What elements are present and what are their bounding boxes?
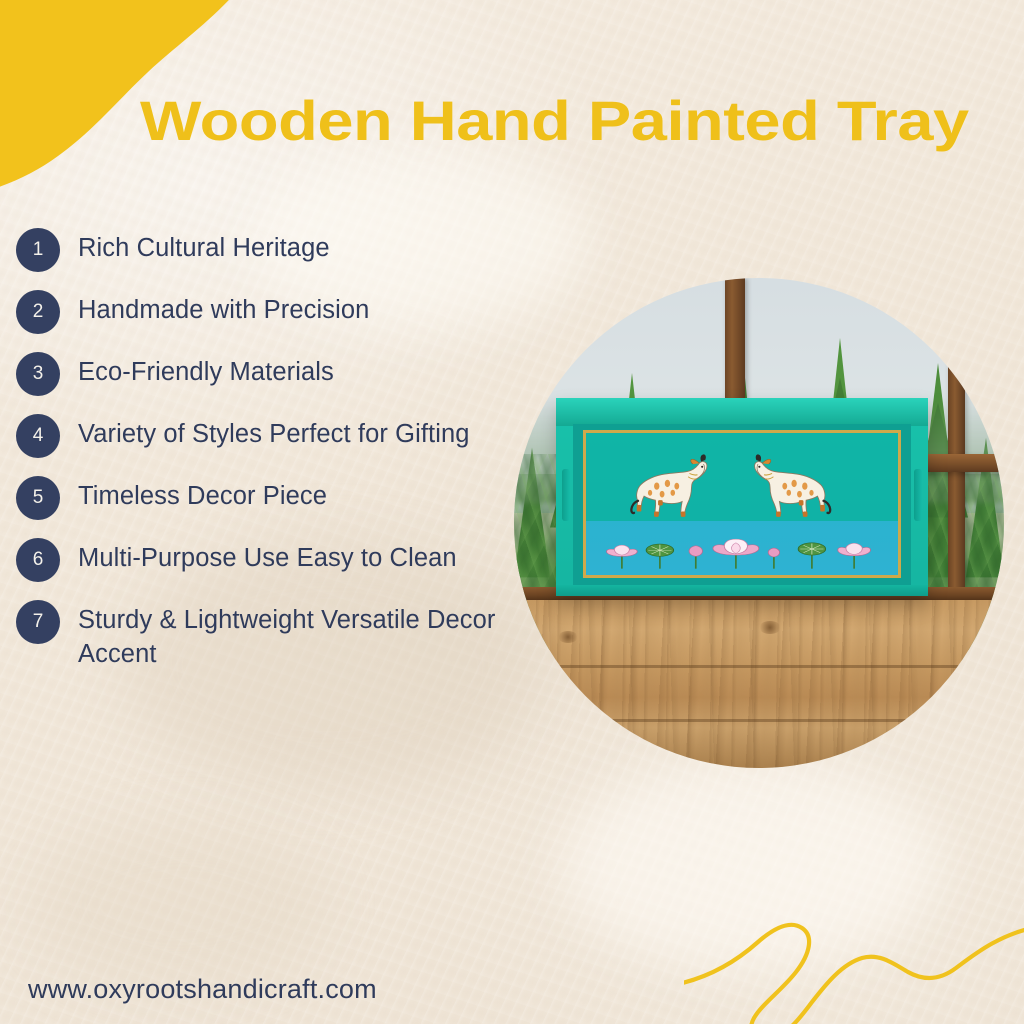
windowsill-seam xyxy=(514,719,1004,722)
list-item: 5 Timeless Decor Piece xyxy=(16,475,536,520)
list-item-label: Timeless Decor Piece xyxy=(78,475,327,514)
list-item: 7 Sturdy & Lightweight Versatile Decor A… xyxy=(16,599,536,672)
list-item-number: 3 xyxy=(16,352,60,396)
tray-handle-right xyxy=(914,469,922,521)
list-item-label: Handmade with Precision xyxy=(78,289,369,328)
list-item-number: 1 xyxy=(16,228,60,272)
list-item-number: 4 xyxy=(16,414,60,458)
feature-list: 1 Rich Cultural Heritage 2 Handmade with… xyxy=(16,227,536,689)
poster-canvas: Wooden Hand Painted Tray 1 Rich Cultural… xyxy=(0,0,1024,1024)
list-item-number: 7 xyxy=(16,600,60,644)
tray-rim xyxy=(556,398,928,426)
paper-smudge xyxy=(30,820,330,990)
painted-cow-left xyxy=(626,447,720,529)
tray-interior xyxy=(573,424,911,585)
list-item-label: Multi-Purpose Use Easy to Clean xyxy=(78,537,457,576)
website-url[interactable]: www.oxyrootshandicraft.com xyxy=(28,974,377,1005)
wood-knot xyxy=(759,621,781,634)
painted-lotus-row xyxy=(605,533,879,570)
list-item-label: Eco-Friendly Materials xyxy=(78,351,334,390)
yellow-squiggle-decoration xyxy=(684,896,1024,1024)
list-item-label: Sturdy & Lightweight Versatile Decor Acc… xyxy=(78,599,536,672)
list-item: 4 Variety of Styles Perfect for Gifting xyxy=(16,413,536,458)
list-item: 6 Multi-Purpose Use Easy to Clean xyxy=(16,537,536,582)
wood-knot xyxy=(558,631,578,643)
product-photo xyxy=(514,278,1004,768)
product-photo-scene xyxy=(514,278,1004,768)
list-item: 3 Eco-Friendly Materials xyxy=(16,351,536,396)
list-item-number: 2 xyxy=(16,290,60,334)
tray-base-edge xyxy=(556,585,928,597)
list-item: 1 Rich Cultural Heritage xyxy=(16,227,536,272)
windowsill-seam xyxy=(514,665,1004,668)
painted-tray xyxy=(556,398,928,596)
list-item-number: 5 xyxy=(16,476,60,520)
tray-artwork-panel xyxy=(583,430,901,578)
list-item-label: Rich Cultural Heritage xyxy=(78,227,330,266)
list-item-label: Variety of Styles Perfect for Gifting xyxy=(78,413,470,452)
page-title: Wooden Hand Painted Tray xyxy=(140,92,1024,150)
list-item-number: 6 xyxy=(16,538,60,582)
tray-handle-left xyxy=(562,469,570,521)
list-item: 2 Handmade with Precision xyxy=(16,289,536,334)
painted-cow-right xyxy=(742,447,836,529)
